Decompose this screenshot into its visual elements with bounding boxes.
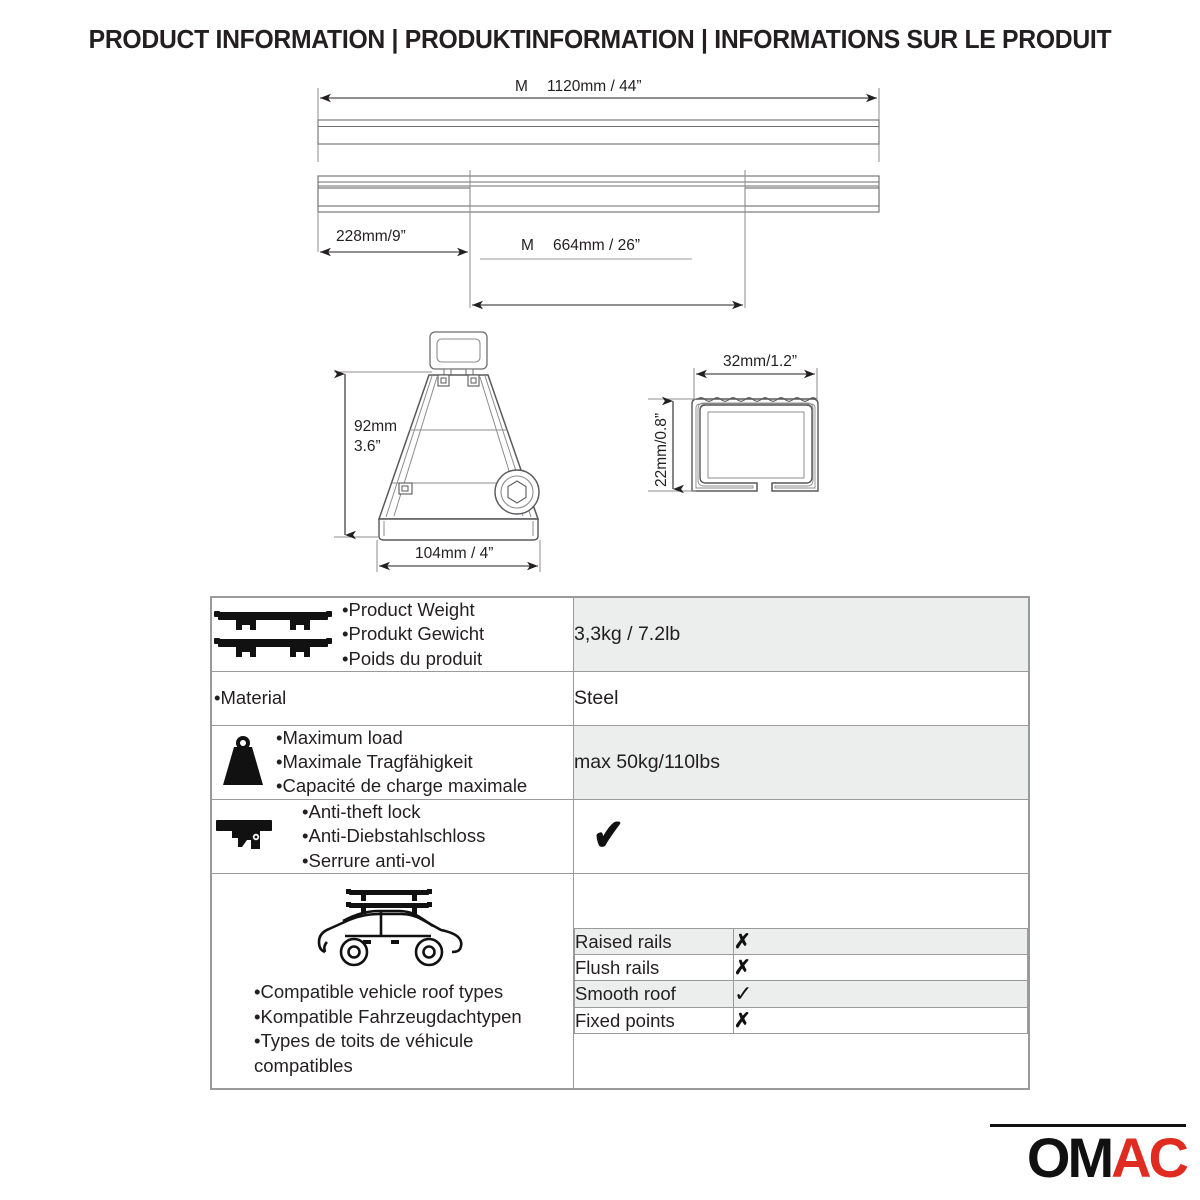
spec-value-max-load: max 50kg/110lbs — [574, 725, 1029, 799]
lock-icon — [212, 812, 284, 860]
svg-text:1120mm / 44”: 1120mm / 44” — [547, 78, 641, 95]
spec-label-text: •Material — [214, 686, 286, 710]
spec-label-fr: •Poids du produit — [342, 647, 484, 671]
roof-type-mark-smooth-roof: ✓ — [734, 981, 1028, 1008]
svg-text:22mm/0.8”: 22mm/0.8” — [653, 413, 670, 487]
tower-width-dimension: 104mm / 4” — [377, 540, 540, 572]
compat-label-en: •Compatible vehicle roof types — [254, 980, 522, 1005]
compat-label-fr: •Types de toits de véhicule — [254, 1029, 522, 1054]
logo-text-ac: AC — [1111, 1126, 1186, 1189]
roof-types-cell: Raised rails ✗ Flush rails ✗ Smooth roof… — [574, 874, 1029, 1089]
roof-types-table: Raised rails ✗ Flush rails ✗ Smooth roof… — [574, 928, 1028, 1034]
specification-table: •Product Weight •Produkt Gewicht •Poids … — [210, 596, 1030, 1090]
roof-type-mark-fixed-points: ✗ — [734, 1008, 1028, 1034]
compat-label-cell: •Compatible vehicle roof types •Kompatib… — [212, 874, 574, 1089]
table-row: •Maximum load •Maximale Tragfähigkeit •C… — [212, 725, 1029, 799]
roof-type-row: Fixed points ✗ — [575, 1008, 1028, 1034]
svg-text:M: M — [521, 237, 534, 254]
spec-label-cell: •Anti-theft lock •Anti-Diebstahlschloss … — [212, 799, 574, 873]
foot-offset-dimension: 228mm/9” — [320, 228, 468, 252]
tower-front-view — [379, 332, 539, 540]
crossbar-side-view — [318, 120, 879, 144]
table-row: •Material Steel — [212, 672, 1029, 725]
logo-text: OMAC — [1027, 1131, 1186, 1184]
crossbars-icon — [212, 606, 334, 664]
weight-icon — [212, 733, 274, 791]
spec-label-material: •Material — [214, 686, 286, 710]
omac-logo: OMAC — [990, 1124, 1186, 1184]
logo-text-om: OM — [1027, 1126, 1111, 1189]
roof-type-name-raised-rails: Raised rails — [575, 929, 734, 955]
roof-type-name-flush-rails: Flush rails — [575, 955, 734, 981]
compat-label-text: •Compatible vehicle roof types •Kompatib… — [218, 980, 522, 1078]
svg-text:M: M — [515, 78, 528, 95]
roof-type-name-fixed-points: Fixed points — [575, 1008, 734, 1034]
table-row: •Compatible vehicle roof types •Kompatib… — [212, 874, 1029, 1089]
car-with-crossbars-icon — [305, 882, 481, 974]
bar-cross-section — [692, 398, 818, 491]
profile-width-dimension: 32mm/1.2” — [694, 353, 817, 400]
roof-type-row: Flush rails ✗ — [575, 955, 1028, 981]
spec-label-en: •Maximum load — [276, 726, 527, 750]
svg-text:664mm / 26”: 664mm / 26” — [553, 237, 640, 254]
table-row: •Anti-theft lock •Anti-Diebstahlschloss … — [212, 799, 1029, 873]
technical-drawing: M 1120mm / 44” 228mm/9” — [0, 0, 1200, 590]
table-row: •Product Weight •Produkt Gewicht •Poids … — [212, 598, 1029, 672]
roof-type-name-smooth-roof: Smooth roof — [575, 981, 734, 1008]
foot-spacing-dimension: M 664mm / 26” — [472, 237, 743, 305]
spec-label-fr: •Serrure anti-vol — [302, 849, 485, 873]
roof-type-row: Raised rails ✗ — [575, 929, 1028, 955]
svg-text:92mm: 92mm — [354, 418, 397, 435]
compat-label-de: •Kompatible Fahrzeugdachtypen — [254, 1005, 522, 1030]
profile-height-dimension: 22mm/0.8” — [648, 399, 696, 491]
spec-label-de: •Produkt Gewicht — [342, 622, 484, 646]
spec-label-de: •Maximale Tragfähigkeit — [276, 750, 527, 774]
product-information-page: PRODUCT INFORMATION | PRODUKTINFORMATION… — [0, 0, 1200, 1200]
svg-text:104mm / 4”: 104mm / 4” — [415, 545, 493, 562]
svg-text:32mm/1.2”: 32mm/1.2” — [723, 353, 797, 370]
spec-label-cell: •Product Weight •Produkt Gewicht •Poids … — [212, 598, 574, 672]
spec-label-en: •Anti-theft lock — [302, 800, 485, 824]
spec-label-fr: •Capacité de charge maximale — [276, 774, 527, 798]
spec-value-material: Steel — [574, 672, 1029, 725]
roof-type-row: Smooth roof ✓ — [575, 981, 1028, 1008]
spec-label-text: •Product Weight •Produkt Gewicht •Poids … — [342, 598, 484, 671]
spec-label-cell: •Maximum load •Maximale Tragfähigkeit •C… — [212, 725, 574, 799]
spec-value-anti-theft: ✔ — [574, 799, 1029, 873]
roof-type-mark-raised-rails: ✗ — [734, 929, 1028, 955]
spec-value-weight: 3,3kg / 7.2lb — [574, 598, 1029, 672]
spec-label-text: •Maximum load •Maximale Tragfähigkeit •C… — [276, 726, 527, 799]
spec-label-en: •Product Weight — [342, 598, 484, 622]
spec-label-text: •Anti-theft lock •Anti-Diebstahlschloss … — [302, 800, 485, 873]
spec-label-cell: •Material — [212, 672, 574, 725]
compat-label-fr-cont: compatibles — [254, 1054, 522, 1079]
checkmark-icon: ✔ — [593, 814, 624, 858]
roof-type-mark-flush-rails: ✗ — [734, 955, 1028, 981]
svg-text:228mm/9”: 228mm/9” — [336, 228, 406, 245]
svg-text:3.6”: 3.6” — [354, 438, 381, 455]
spec-label-de: •Anti-Diebstahlschloss — [302, 824, 485, 848]
